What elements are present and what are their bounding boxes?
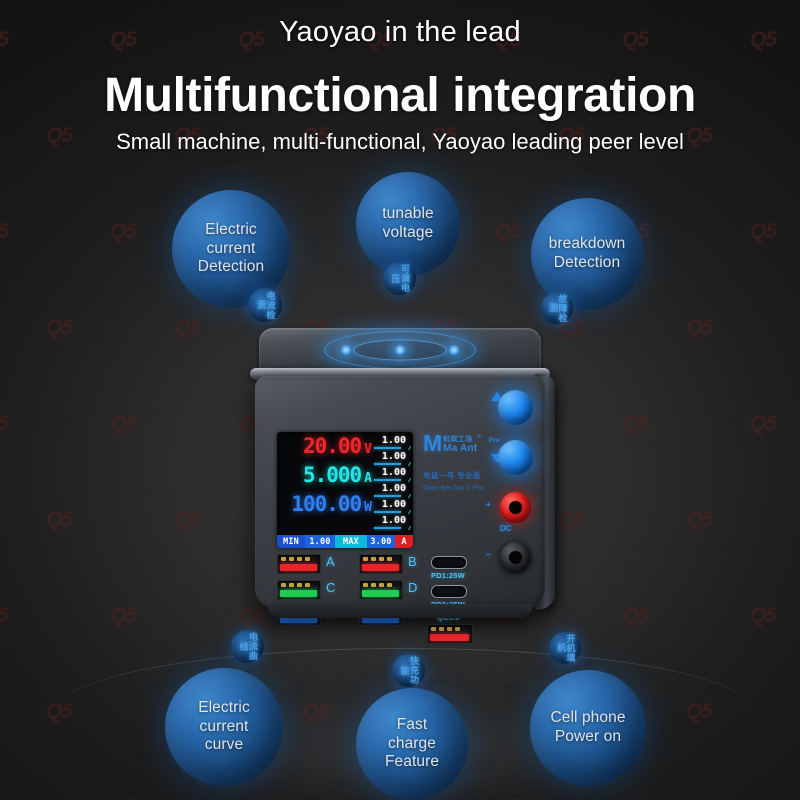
min-label: MIN	[277, 535, 305, 548]
bubble-line-1: Fast	[385, 716, 439, 735]
button-down[interactable]	[498, 440, 533, 475]
lcd-min-max-bar: MIN 1.00 MAX 3.00 A	[277, 535, 413, 548]
bubble-cn-label: 开机填机	[556, 632, 575, 664]
usb-port-c[interactable]	[277, 580, 321, 600]
watermark-text: Q5	[46, 508, 72, 532]
dc-terminal-negative[interactable]	[500, 542, 531, 573]
lcd-side-tick-icon	[402, 446, 411, 450]
lcd-side-channel-5: 1.00	[373, 499, 411, 515]
lcd-side-tick-icon	[402, 526, 411, 530]
subtitle-text: Small machine, multi-functional, Yaoyao …	[0, 129, 800, 155]
usb-c-port-pd1[interactable]	[431, 556, 467, 569]
lcd-reading-power: 100.00 W	[280, 494, 372, 523]
current-value: 5.000	[303, 465, 361, 486]
current-unit: A	[364, 472, 372, 485]
lcd-side-channel-4: 1.00	[373, 483, 411, 499]
lcd-side-value: 1.00	[382, 435, 406, 446]
bubble-line-1: Electric	[198, 221, 264, 240]
feature-bubble-cn-fast-charge-feature: 快充功能	[392, 654, 425, 687]
lcd-side-channel-list: 1.001.001.001.001.001.00	[373, 435, 411, 531]
bubble-line-3: curve	[198, 736, 250, 755]
page-title: Multifunctional integration	[0, 68, 800, 123]
terminal-minus-label: −	[486, 550, 491, 559]
watermark-text: Q5	[622, 412, 648, 436]
bubble-line-1: Electric	[198, 699, 250, 718]
wireless-dot-right	[449, 345, 459, 355]
bubble-cn-label: 可调电压	[390, 262, 409, 295]
bubble-line-1: tunable	[382, 205, 434, 224]
wireless-dot-center	[395, 345, 405, 355]
feature-bubble-electric-current-curve[interactable]: Electric current curve	[165, 668, 283, 786]
lcd-side-tick-icon	[402, 494, 411, 498]
lcd-side-value: 1.00	[382, 467, 406, 478]
bubble-line-2: Power on	[550, 728, 625, 747]
watermark-text: Q5	[110, 604, 136, 628]
bubble-line-1: breakdown	[549, 235, 626, 254]
usb-port-a[interactable]	[277, 554, 321, 574]
button-up[interactable]	[498, 390, 533, 425]
watermark-text: Q5	[622, 604, 648, 628]
lcd-display[interactable]: 20.00 V 5.000 A 100.00 W 1.001.001.001.0…	[277, 432, 413, 548]
feature-bubble-cn-electric-current-detection: 电流检测	[248, 288, 282, 322]
watermark-text: Q5	[558, 508, 584, 532]
max-label: MAX	[335, 535, 367, 548]
min-value: 1.00	[305, 535, 335, 548]
lcd-side-bar	[374, 463, 401, 465]
lcd-side-channel-2: 1.00	[373, 451, 411, 467]
wireless-charging-pad[interactable]	[259, 328, 541, 372]
watermark-text: Q5	[0, 220, 8, 244]
voltage-unit: V	[364, 443, 372, 456]
brand-initial: M	[423, 434, 442, 453]
watermark-text: Q5	[110, 412, 136, 436]
watermark-text: Q5	[750, 604, 776, 628]
watermark-text: Q5	[686, 316, 712, 340]
lcd-side-bar	[374, 511, 401, 513]
brand-name: Ma Ant	[443, 444, 477, 454]
voltage-value: 20.00	[303, 436, 361, 457]
dc-terminal-positive[interactable]	[500, 492, 531, 523]
usb-c-port-pd2[interactable]	[431, 585, 467, 598]
watermark-text: Q5	[110, 220, 136, 244]
usb-c-label-pd1: PD1:25W	[431, 571, 465, 580]
watermark-text: Q5	[110, 796, 136, 800]
watermark-text: Q5	[686, 508, 712, 532]
feature-bubble-cn-breakdown-detection: 故障检测	[541, 292, 573, 324]
power-supply-device: 20.00 V 5.000 A 100.00 W 1.001.001.001.0…	[245, 328, 555, 640]
bubble-line-2: charge	[385, 735, 439, 754]
feature-bubble-cell-phone-power-on[interactable]: Cell phone Power on	[530, 670, 646, 786]
feature-bubble-fast-charge-feature[interactable]: Fast charge Feature	[356, 688, 468, 800]
lcd-side-value: 1.00	[382, 483, 406, 494]
power-unit: W	[364, 501, 372, 514]
wireless-dot-left	[341, 345, 351, 355]
bubble-line-3: Feature	[385, 753, 439, 772]
lcd-side-bar	[374, 495, 401, 497]
bubble-line-2: voltage	[382, 224, 434, 243]
bubble-line-1: Cell phone	[550, 709, 625, 728]
watermark-text: Q5	[750, 796, 776, 800]
lcd-side-channel-3: 1.00	[373, 467, 411, 483]
lcd-main-readings: 20.00 V 5.000 A 100.00 W	[280, 436, 372, 523]
bubble-line-2: current	[198, 240, 264, 259]
lcd-side-value: 1.00	[382, 499, 406, 510]
device-base	[267, 604, 533, 618]
bubble-cn-label: 电流检测	[256, 288, 275, 322]
lcd-side-bar	[374, 527, 401, 529]
watermark-text: Q5	[750, 412, 776, 436]
watermark-text: Q5	[0, 604, 8, 628]
preset-label: Pre	[489, 438, 499, 445]
lcd-reading-voltage: 20.00 V	[280, 436, 372, 465]
poster-canvas: Q5Q5Q5Q5Q5Q5Q5Q5Q5Q5Q5Q5Q5Q5Q5Q5Q5Q5Q5Q5…	[0, 0, 800, 800]
watermark-text: Q5	[0, 412, 8, 436]
brand-block: M 蚂蚁工场 Ma Ant ® 电鼠一号 专业版 Dian-bei No.1 P…	[423, 434, 485, 492]
usb-label-c: C	[326, 580, 335, 595]
watermark-text: Q5	[494, 220, 520, 244]
bubble-cn-label: 故障检测	[548, 292, 567, 324]
terminal-plus-label: +	[486, 500, 491, 509]
watermark-text: Q5	[46, 316, 72, 340]
brand-cn-name: 蚂蚁工场	[443, 436, 477, 443]
bubble-line-2: Detection	[549, 254, 626, 273]
unit-badge: A	[395, 535, 413, 548]
lcd-side-value: 1.00	[382, 515, 406, 526]
lcd-side-tick-icon	[402, 462, 411, 466]
bubble-line-2: current	[198, 718, 250, 737]
usb-port-qc3[interactable]	[427, 624, 473, 644]
bubble-line-3: Detection	[198, 258, 264, 277]
lcd-side-channel-6: 1.00	[373, 515, 411, 531]
usb-port-d[interactable]	[359, 580, 403, 600]
lcd-side-tick-icon	[402, 510, 411, 514]
dc-label: DC	[500, 524, 512, 533]
bubble-cn-label: 快充功能	[399, 654, 418, 687]
watermark-text: Q5	[174, 316, 200, 340]
registered-mark: ®	[477, 434, 481, 440]
usb-label-b: B	[408, 554, 417, 569]
watermark-text: Q5	[174, 508, 200, 532]
lcd-side-tick-icon	[402, 478, 411, 482]
feature-bubble-tunable-voltage[interactable]: tunable voltage	[356, 172, 460, 276]
model-cn-label: 电鼠一号 专业版	[423, 470, 485, 481]
model-label: Dian-bei No.1 Pro	[423, 483, 485, 492]
watermark-text: Q5	[0, 796, 8, 800]
lcd-side-bar	[374, 447, 401, 449]
eyebrow-text: Yaoyao in the lead	[0, 16, 800, 49]
lcd-reading-current: 5.000 A	[280, 465, 372, 494]
lcd-side-value: 1.00	[382, 451, 406, 462]
lcd-side-channel-1: 1.00	[373, 435, 411, 451]
usb-port-b[interactable]	[359, 554, 403, 574]
usb-label-d: D	[408, 580, 417, 595]
watermark-text: Q5	[750, 220, 776, 244]
max-value: 3.00	[367, 535, 395, 548]
feature-bubble-cn-tunable-voltage: 可调电压	[383, 262, 416, 295]
lcd-side-bar	[374, 479, 401, 481]
usb-label-a: A	[326, 554, 335, 569]
power-value: 100.00	[291, 494, 361, 515]
wireless-charging-ring-icon	[324, 331, 476, 369]
